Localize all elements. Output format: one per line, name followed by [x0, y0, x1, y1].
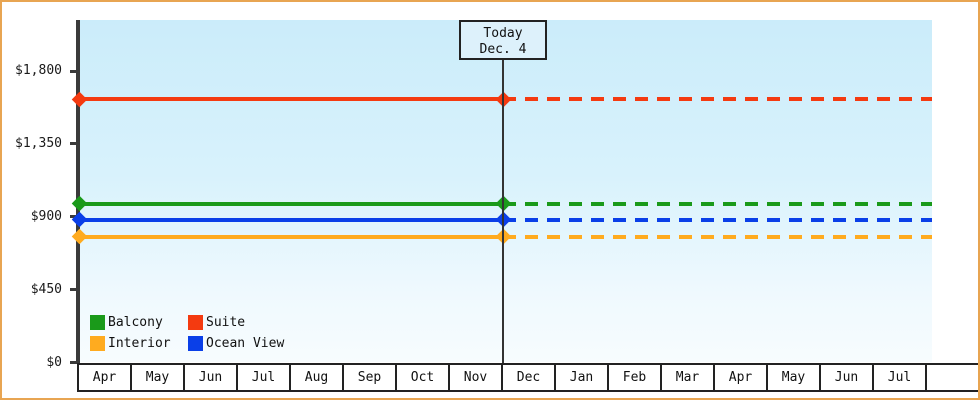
today-callout: Today Dec. 4: [459, 20, 547, 60]
x-axis-month-cell[interactable]: [927, 365, 980, 390]
series-line-solid: [79, 235, 503, 239]
legend-label: Balcony: [108, 315, 163, 330]
y-axis-label: $0: [46, 356, 62, 369]
y-axis-label: $450: [31, 283, 62, 296]
legend-item[interactable]: Ocean View: [188, 336, 284, 351]
legend-row: BalconySuite: [90, 312, 284, 333]
x-axis-month-cell[interactable]: Dec: [503, 365, 556, 390]
y-axis-tick: [70, 142, 78, 145]
x-axis-months: AprMayJunJulAugSepOctNovDecJanFebMarAprM…: [77, 363, 980, 392]
series-line-forecast: [503, 97, 932, 101]
x-axis-month-cell[interactable]: Nov: [450, 365, 503, 390]
x-axis-month-cell[interactable]: Aug: [291, 365, 344, 390]
today-callout-title: Today: [461, 26, 545, 42]
x-axis-month-cell[interactable]: Mar: [662, 365, 715, 390]
x-axis-month-cell[interactable]: Feb: [609, 365, 662, 390]
today-callout-date: Dec. 4: [461, 42, 545, 58]
y-axis-label: $1,350: [15, 137, 62, 150]
series-line-forecast: [503, 218, 932, 222]
legend-label: Suite: [206, 315, 245, 330]
legend-label: Ocean View: [206, 336, 284, 351]
x-axis-month-cell[interactable]: Jul: [874, 365, 927, 390]
x-axis-month-cell[interactable]: May: [768, 365, 821, 390]
x-axis-month-cell[interactable]: Jun: [821, 365, 874, 390]
price-forecast-chart: $1,800$1,350$900$450$0 Today Dec. 4 Balc…: [0, 0, 980, 400]
plot-area: [79, 20, 932, 362]
x-axis-month-cell[interactable]: Oct: [397, 365, 450, 390]
series-line-solid: [79, 202, 503, 206]
legend-label: Interior: [108, 336, 171, 351]
y-axis-tick: [70, 288, 78, 291]
today-vertical-line: [502, 20, 504, 363]
legend-swatch-icon: [188, 315, 203, 330]
x-axis-month-cell[interactable]: Sep: [344, 365, 397, 390]
x-axis-month-cell[interactable]: Apr: [715, 365, 768, 390]
y-axis-label: $1,800: [15, 64, 62, 77]
y-axis-label: $900: [31, 210, 62, 223]
x-axis-month-cell[interactable]: May: [132, 365, 185, 390]
x-axis-month-cell[interactable]: Apr: [79, 365, 132, 390]
series-line-forecast: [503, 202, 932, 206]
legend-row: InteriorOcean View: [90, 333, 284, 354]
legend-item[interactable]: Balcony: [90, 315, 188, 330]
x-axis-month-cell[interactable]: Jul: [238, 365, 291, 390]
legend-item[interactable]: Suite: [188, 315, 245, 330]
legend-swatch-icon: [90, 315, 105, 330]
legend-swatch-icon: [188, 336, 203, 351]
legend: BalconySuiteInteriorOcean View: [90, 312, 284, 354]
x-axis-month-cell[interactable]: Jun: [185, 365, 238, 390]
legend-item[interactable]: Interior: [90, 336, 188, 351]
series-line-solid: [79, 97, 503, 101]
x-axis-month-cell[interactable]: Jan: [556, 365, 609, 390]
series-line-forecast: [503, 235, 932, 239]
series-line-solid: [79, 218, 503, 222]
y-axis-tick: [70, 70, 78, 73]
legend-swatch-icon: [90, 336, 105, 351]
